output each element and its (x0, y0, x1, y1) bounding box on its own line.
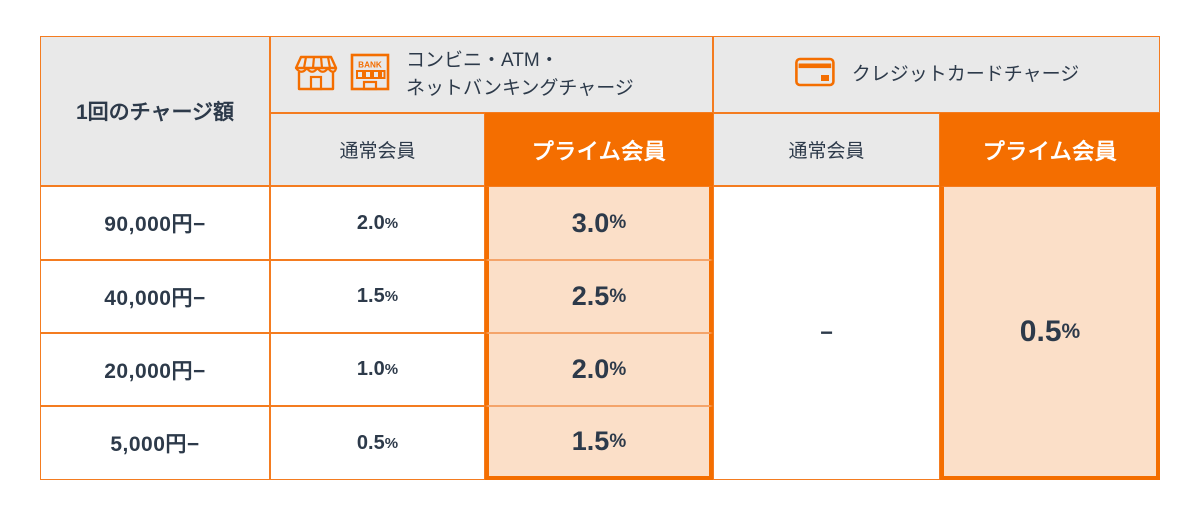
subheader-label: プライム会員 (532, 134, 667, 166)
conbini-label-line1: コンビニ・ATM・ (406, 50, 559, 71)
credit-card-icon (794, 56, 836, 93)
rate-unit: % (609, 286, 626, 308)
column-group-header-conbini: BANK コンビニ・ATM・ ネットバンキングチャージ (270, 36, 713, 113)
store-icon (293, 51, 339, 98)
rate-value: 2.5 (572, 281, 610, 312)
rate-value: 1.5 (572, 426, 610, 457)
cell-conbini-prime: 2.0% (485, 333, 713, 406)
rate-value: 2.0 (357, 212, 385, 235)
row-label-cell: 20,000円− (40, 333, 270, 406)
cell-conbini-normal: 1.0% (270, 333, 485, 406)
subheader-label: プライム会員 (983, 134, 1118, 166)
rate-value: 1.0 (357, 358, 385, 381)
rate-unit: % (385, 435, 398, 452)
rate-unit: % (609, 431, 626, 453)
rate-unit: % (1062, 320, 1081, 344)
subheader-creditcard-prime: プライム会員 (940, 113, 1160, 186)
rate-value: 2.0 (572, 354, 610, 385)
rate-value: 0.5 (357, 432, 385, 455)
creditcard-label-line1: クレジットカードチャージ (852, 64, 1079, 85)
cell-conbini-normal: 2.0% (270, 186, 485, 260)
subheader-label: 通常会員 (339, 136, 415, 163)
rate-value: 3.0 (572, 208, 610, 239)
row-label-cell: 40,000円− (40, 260, 270, 333)
cell-conbini-prime: 1.5% (485, 406, 713, 480)
cell-conbini-prime: 2.5% (485, 260, 713, 333)
row-amount-label: 40,000円− (104, 282, 206, 312)
rate-value: 1.5 (357, 285, 385, 308)
subheader-label: 通常会員 (788, 136, 864, 163)
bank-icon-text: BANK (358, 61, 382, 70)
rate-unit: % (609, 359, 626, 381)
cell-creditcard-normal-merged: − (713, 186, 940, 480)
row-label-cell: 90,000円− (40, 186, 270, 260)
rate-unit: % (385, 288, 398, 305)
cell-conbini-prime: 3.0% (485, 186, 713, 260)
column-group-header-creditcard: クレジットカードチャージ (713, 36, 1160, 113)
dash-value: − (820, 320, 833, 346)
conbini-icon-pair: BANK (293, 51, 392, 98)
row-amount-label: 20,000円− (104, 355, 206, 385)
subheader-conbini-normal: 通常会員 (270, 113, 485, 186)
column-group-label-creditcard: クレジットカードチャージ (852, 61, 1079, 89)
conbini-label-line2: ネットバンキングチャージ (406, 78, 634, 99)
bank-icon: BANK (348, 51, 392, 98)
subheader-conbini-prime: プライム会員 (485, 113, 713, 186)
cell-conbini-normal: 1.5% (270, 260, 485, 333)
charge-rate-table: 1回のチャージ額 B (40, 36, 1160, 480)
row-label-cell: 5,000円− (40, 406, 270, 480)
cell-conbini-normal: 0.5% (270, 406, 485, 480)
rate-value: 0.5 (1020, 315, 1062, 349)
cell-creditcard-prime-merged: 0.5% (940, 186, 1160, 480)
column-group-label-conbini: コンビニ・ATM・ ネットバンキングチャージ (406, 47, 634, 102)
row-header-title-cell: 1回のチャージ額 (40, 36, 270, 186)
row-amount-label: 5,000円− (110, 428, 199, 458)
row-header-title: 1回のチャージ額 (76, 96, 234, 126)
subheader-creditcard-normal: 通常会員 (713, 113, 940, 186)
rate-unit: % (609, 212, 626, 234)
row-amount-label: 90,000円− (104, 208, 206, 238)
rate-unit: % (385, 361, 398, 378)
rate-unit: % (385, 215, 398, 232)
